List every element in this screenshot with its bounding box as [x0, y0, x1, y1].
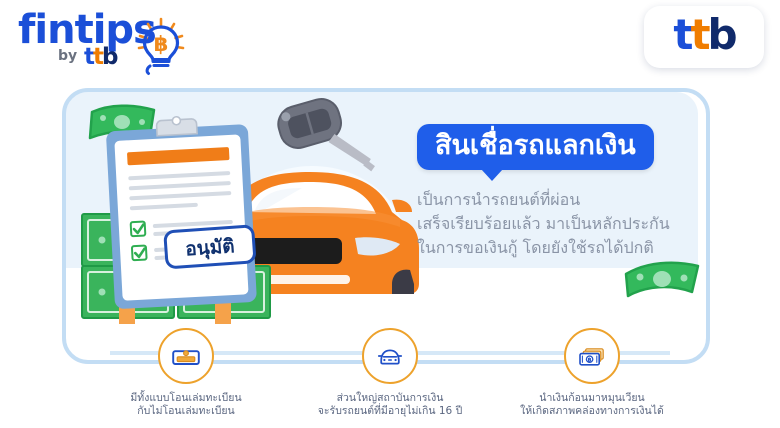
fintips-ttb-wordmark: ttb	[84, 44, 116, 70]
approved-stamp-text: อนุมัติ	[185, 235, 236, 261]
feature-caption-1-line-2: กับไม่โอนเล่มทะเบียน	[86, 405, 286, 418]
feature-caption-2-line-2: จะรับรถยนต์ที่มีอายุไม่เกิน 16 ปี	[290, 405, 490, 418]
ttb-corner-letter-b-navy: b	[708, 10, 735, 59]
hero-description-line-2: เสร็จเรียบร้อยแล้ว มาเป็นหลักประกัน	[417, 212, 707, 236]
fintips-by-label: by	[58, 48, 77, 64]
ttb-corner-logo[interactable]: ttb	[644, 6, 764, 68]
feature-icon-circle-2	[362, 328, 418, 384]
lightbulb-baht-icon: ฿	[130, 14, 192, 76]
hero-description-line-1: เป็นการนำรถยนต์ที่ผ่อน	[417, 188, 707, 212]
title-bubble-tail	[481, 169, 503, 181]
page-title: สินเชื่อรถแลกเงิน	[435, 131, 636, 161]
feature-caption-1-line-1: มีทั้งแบบโอนเล่มทะเบียน	[86, 392, 286, 405]
feature-caption-2-line-1: ส่วนใหญ่สถาบันการเงิน	[290, 392, 490, 405]
feature-item-cash-flow[interactable]: ฿ นำเงินก้อนมาหมุนเวียน ให้เกิดสภาพคล่อง…	[492, 328, 692, 418]
fintips-logo: fintips by ttb ฿	[18, 8, 198, 70]
ttb-corner-wordmark: ttb	[673, 14, 734, 56]
clipboard-checklist-icon	[105, 113, 257, 309]
car-front-icon	[374, 340, 406, 372]
feature-icon-circle-3: ฿	[564, 328, 620, 384]
vehicle-registration-book-icon	[170, 340, 202, 372]
feature-icon-circle-1	[158, 328, 214, 384]
hero-description: เป็นการนำรถยนต์ที่ผ่อน เสร็จเรียบร้อยแล้…	[417, 188, 707, 260]
feature-caption-3-line-1: นำเงินก้อนมาหมุนเวียน	[492, 392, 692, 405]
floating-banknote-right-icon	[620, 252, 704, 304]
ttb-corner-letter-t-blue: t	[673, 10, 690, 59]
feature-item-registration[interactable]: มีทั้งแบบโอนเล่มทะเบียน กับไม่โอนเล่มทะเ…	[86, 328, 286, 418]
ttb-letter-t-orange: t	[93, 44, 102, 70]
infographic-root: fintips by ttb ฿ ttb	[0, 0, 780, 428]
feature-caption-3: นำเงินก้อนมาหมุนเวียน ให้เกิดสภาพคล่องทา…	[492, 392, 692, 418]
ttb-letter-t-blue: t	[84, 44, 93, 70]
feature-item-car-age[interactable]: ส่วนใหญ่สถาบันการเงิน จะรับรถยนต์ที่มีอา…	[290, 328, 490, 418]
ttb-corner-letter-t-orange: t	[690, 10, 707, 59]
feature-caption-1: มีทั้งแบบโอนเล่มทะเบียน กับไม่โอนเล่มทะเ…	[86, 392, 286, 418]
ttb-letter-b-navy: b	[102, 44, 116, 70]
approved-stamp: อนุมัติ	[165, 226, 255, 268]
hero-title-bubble: สินเชื่อรถแลกเงิน	[417, 124, 654, 170]
svg-text:฿: ฿	[588, 357, 592, 364]
hero-illustration: อนุมัติ	[62, 88, 462, 328]
svg-text:฿: ฿	[154, 32, 169, 56]
feature-caption-3-line-2: ให้เกิดสภาพคล่องทางการเงินได้	[492, 405, 692, 418]
feature-caption-2: ส่วนใหญ่สถาบันการเงิน จะรับรถยนต์ที่มีอา…	[290, 392, 490, 418]
cash-banknotes-icon: ฿	[576, 340, 608, 372]
